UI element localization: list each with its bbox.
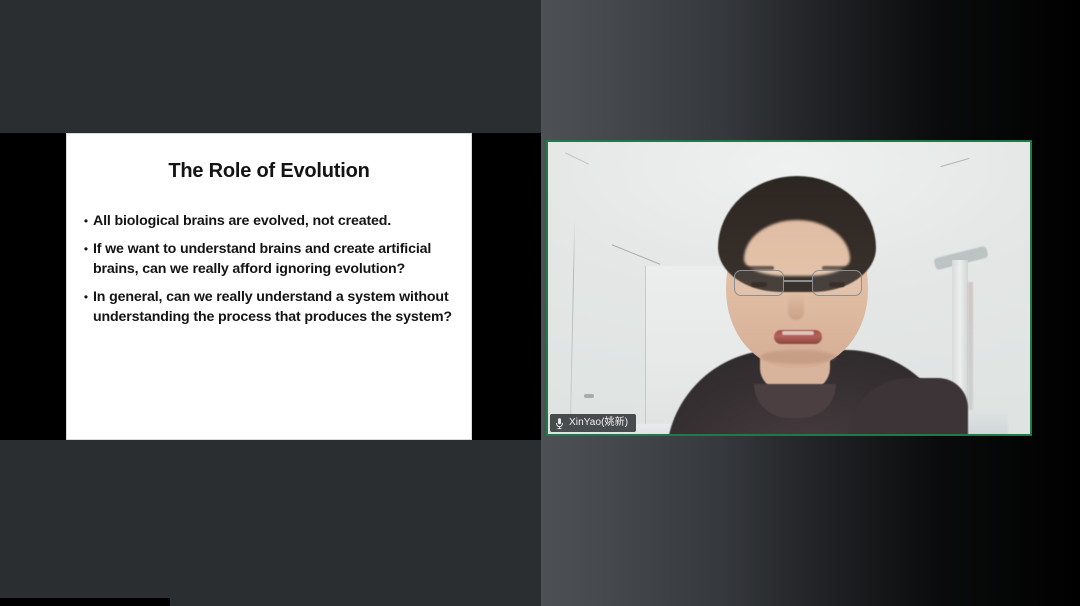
speaker-teeth [782,331,814,335]
participant-name-label: XinYao(姚新) [569,414,628,432]
slide-bullet-text: If we want to understand brains and crea… [93,239,457,280]
bullet-marker-icon: • [79,211,93,231]
slide-bullet: • In general, can we really understand a… [79,287,457,328]
bullet-marker-icon: • [79,287,93,307]
slide-title: The Role of Evolution [67,160,471,183]
speaker-nose [788,294,804,320]
video-stream [548,142,1030,434]
presentation-slide: The Role of Evolution • All biological b… [66,133,472,440]
background-shadow [968,282,973,422]
wall-seam [612,244,661,264]
shared-screen-region[interactable]: The Role of Evolution • All biological b… [0,133,541,440]
glasses-bridge [784,280,812,282]
wall-seam [570,220,575,430]
microphone-icon[interactable] [555,417,564,430]
speaker-chin-shadow [760,350,836,364]
slide-bullet: • All biological brains are evolved, not… [79,211,457,232]
speaker-eye [751,282,767,287]
background-bottom-strip [0,598,170,606]
speaker-eye [829,282,845,287]
slide-bullet: • If we want to understand brains and cr… [79,239,457,280]
slide-bullet-text: In general, can we really understand a s… [93,287,457,328]
wall-mark [940,158,969,167]
wall-smudge [584,394,594,398]
participant-video-tile[interactable]: XinYao(姚新) [546,140,1032,436]
meeting-stage: The Role of Evolution • All biological b… [0,0,1080,606]
slide-bullet-list: • All biological brains are evolved, not… [79,211,457,328]
slide-bullet-text: All biological brains are evolved, not c… [93,211,391,232]
participant-name-badge: XinYao(姚新) [550,414,636,432]
bullet-marker-icon: • [79,239,93,259]
wall-mark [565,152,589,164]
